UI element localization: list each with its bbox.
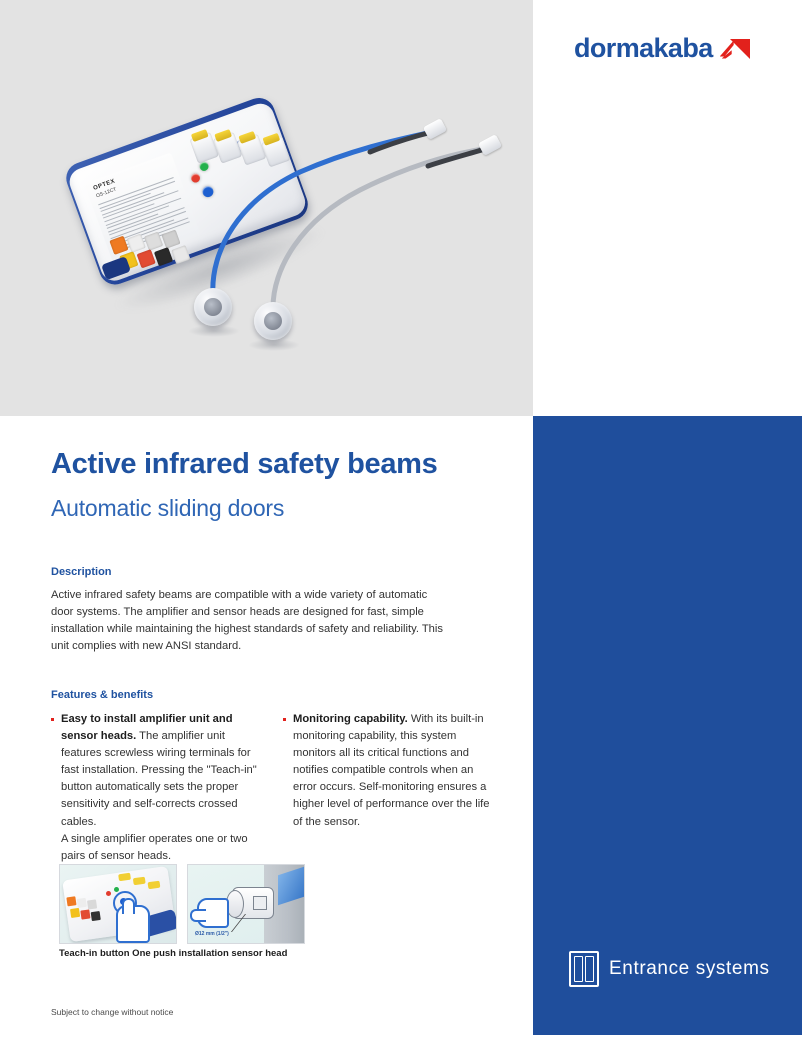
thumb1-terminals [66, 893, 103, 923]
feature-column-right: Monitoring capability. With its built-in… [283, 711, 497, 864]
content-column: Active infrared safety beams Automatic s… [51, 448, 513, 865]
sensor-head [194, 288, 232, 326]
brand-panel: Entrance systems [533, 416, 802, 1035]
sensor-head [254, 302, 292, 340]
feature-item: Monitoring capability. With its built-in… [283, 711, 497, 830]
product-photo: OPTEX OS-12CT [0, 0, 533, 416]
hand-pointer-icon [197, 898, 229, 928]
bullet-icon [283, 718, 286, 721]
thumbnail-teach-in-button [59, 864, 177, 944]
dormakaba-wordmark: dormakaba [574, 33, 713, 64]
feature-detail: The amplifier unit features screwless wi… [61, 730, 257, 861]
thumbnail-one-push-installation: Ø12 mm (1/2") [187, 864, 305, 944]
thumb2-dimension-label: Ø12 mm (1/2") [195, 931, 229, 937]
description-heading: Description [51, 566, 513, 578]
description-text: Active infrared safety beams are compati… [51, 587, 451, 655]
dormakaba-mark-icon [720, 39, 750, 59]
hand-pointer-icon [116, 905, 150, 943]
entrance-systems-label: Entrance systems [609, 958, 770, 980]
sensor-head-shadow [248, 339, 300, 351]
bullet-icon [51, 718, 54, 721]
door-icon [569, 951, 599, 987]
entrance-systems-logo: Entrance systems [569, 951, 770, 987]
features-heading: Features & benefits [51, 689, 513, 701]
footer-note: Subject to change without notice [51, 1007, 173, 1017]
cable-paths [180, 110, 520, 360]
thumbnail-caption: Teach-in button One push installation se… [59, 948, 287, 959]
sensor-head-shadow [188, 325, 240, 337]
feature-text: Monitoring capability. With its built-in… [293, 711, 497, 830]
product-photo-stage: OPTEX OS-12CT [0, 0, 533, 416]
page-subtitle: Automatic sliding doors [51, 495, 513, 522]
feature-column-left: Easy to install amplifier unit and senso… [51, 711, 265, 864]
feature-text: Easy to install amplifier unit and senso… [61, 711, 265, 864]
page-title: Active infrared safety beams [51, 448, 513, 481]
features-list: Easy to install amplifier unit and senso… [51, 711, 513, 864]
feature-item: Easy to install amplifier unit and senso… [51, 711, 265, 864]
sensor-heads-and-cables [180, 110, 520, 360]
dormakaba-logo: dormakaba [574, 33, 750, 64]
thumbnail-row: Ø12 mm (1/2") [59, 864, 305, 944]
feature-detail: With its built-in monitoring capability,… [293, 713, 490, 827]
feature-lead: Monitoring capability. [293, 713, 408, 725]
